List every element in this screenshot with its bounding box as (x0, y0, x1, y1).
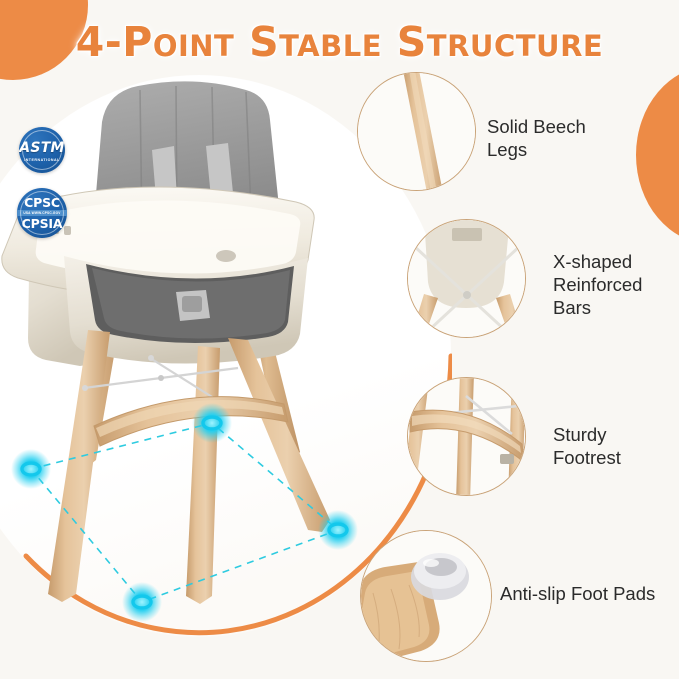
badge-ring (22, 130, 62, 170)
glow-marker (11, 449, 51, 489)
label-line: Footrest (553, 446, 679, 469)
badge-astm: ASTM INTERNATIONAL (19, 127, 65, 173)
badge-cpsc: CPSC USA WWW.CPSC.GOV CPSIA (17, 188, 67, 238)
glow-marker (122, 582, 162, 622)
callout-solid-beech-legs (357, 72, 476, 191)
x-bars-closeup (408, 220, 525, 337)
label-line: Reinforced (553, 273, 679, 296)
callout-sturdy-footrest (407, 377, 526, 496)
callout-anti-slip-foot-pads (360, 530, 492, 662)
label-line: X-shaped (553, 250, 679, 273)
footrest-closeup (408, 378, 525, 495)
badge-ring (20, 191, 64, 235)
glow-marker (192, 403, 232, 443)
callout-label-solid-beech-legs: Solid Beech Legs (487, 115, 657, 161)
infographic-canvas: 4-Point Stable Structure (0, 0, 679, 679)
beech-leg-closeup (358, 73, 475, 190)
callout-x-shaped-reinforced-bars (407, 219, 526, 338)
label-line: Bars (553, 296, 679, 319)
foot-pad-closeup (361, 531, 491, 661)
page-title: 4-Point Stable Structure (0, 18, 679, 66)
callout-label-sturdy-footrest: Sturdy Footrest (553, 423, 679, 469)
glow-marker (318, 510, 358, 550)
callout-label-anti-slip-foot-pads: Anti-slip Foot Pads (500, 582, 679, 605)
label-line: Legs (487, 138, 657, 161)
label-line: Solid Beech (487, 115, 657, 138)
label-line: Sturdy (553, 423, 679, 446)
callout-label-x-shaped-reinforced-bars: X-shaped Reinforced Bars (553, 250, 679, 319)
label-line: Anti-slip Foot Pads (500, 582, 679, 605)
